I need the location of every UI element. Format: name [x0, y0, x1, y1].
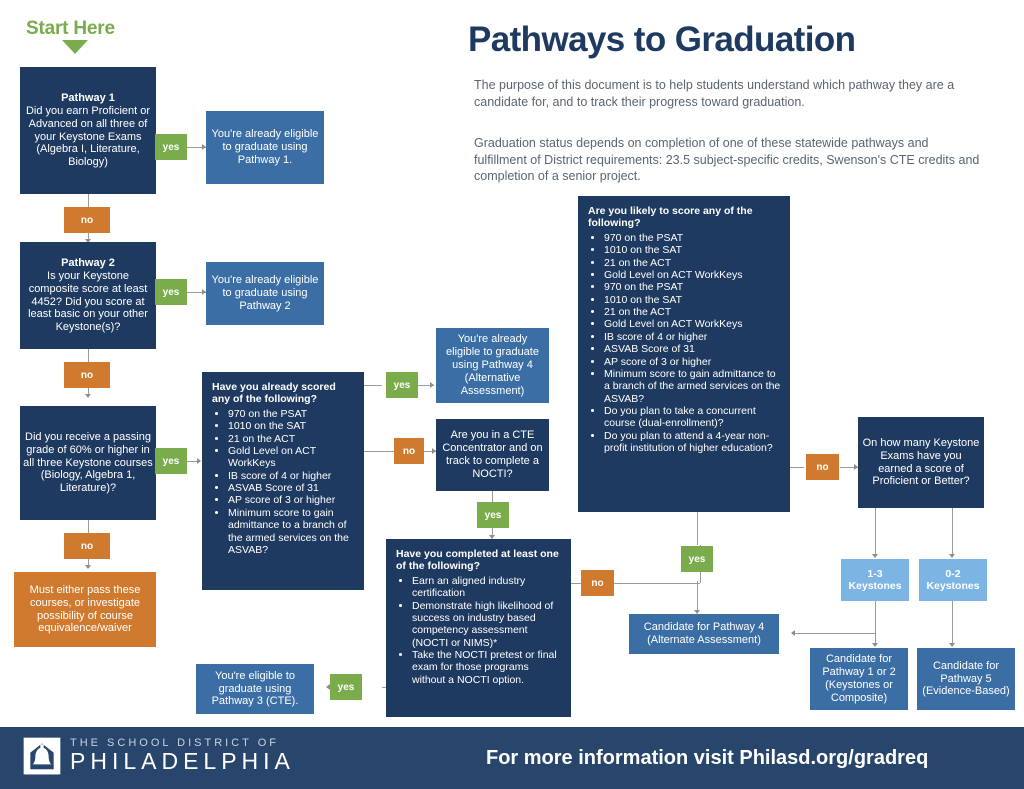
- list-item: 970 on the PSAT: [604, 281, 781, 293]
- node-how-many-keystones: On how many Keystone Exams have you earn…: [858, 417, 984, 508]
- node-pathway-2: Pathway 2 Is your Keystone composite sco…: [20, 242, 156, 349]
- footer-bar: THE SCHOOL DISTRICT OF PHILADELPHIA For …: [0, 727, 1024, 789]
- node-pathway-1-body: Did you earn Proficient or Advanced on a…: [23, 105, 153, 170]
- edge-label-no-likely-to-score-text: no: [816, 462, 828, 473]
- node-keystone-courses-text: Did you receive a passing grade of 60% o…: [23, 431, 153, 496]
- node-pathway-3-result-text: You're eligible to graduate using Pathwa…: [200, 670, 310, 709]
- list-item: AP score of 3 or higher: [228, 494, 355, 506]
- node-completed-one: Have you completed at least one of the f…: [386, 539, 571, 717]
- list-item: 1010 on the SAT: [604, 244, 781, 256]
- list-item: 970 on the PSAT: [604, 232, 781, 244]
- edge-label-no-likely-to-score: no: [806, 454, 839, 480]
- edge-label-no-keystone-courses: no: [64, 533, 110, 559]
- edge-label-yes-cte-text: yes: [485, 510, 502, 521]
- list-item: AP score of 3 or higher: [604, 356, 781, 368]
- edge-label-no-p1-text: no: [81, 215, 93, 226]
- list-item: IB score of 4 or higher: [604, 331, 781, 343]
- edge-label-yes-already-scored-text: yes: [394, 380, 411, 391]
- list-item: Take the NOCTI pretest or final exam for…: [412, 649, 562, 686]
- edge-label-yes-completed-one: yes: [330, 674, 362, 700]
- node-already-scored: Have you already scored any of the follo…: [202, 372, 364, 590]
- edge-label-no-completed-one-text: no: [591, 578, 603, 589]
- list-item: ASVAB Score of 31: [228, 482, 355, 494]
- triangle-down-icon: [62, 40, 88, 54]
- start-here-label: Start Here: [26, 18, 115, 40]
- edge-label-no-already-scored: no: [394, 438, 424, 464]
- node-candidate-pathway-4-text: Candidate for Pathway 4 (Alternate Asses…: [633, 621, 775, 647]
- node-completed-one-heading: Have you completed at least one of the f…: [396, 548, 562, 573]
- node-pathway-4-result-text: You're already eligible to graduate usin…: [440, 333, 545, 398]
- footer-brand-line-2: PHILADELPHIA: [70, 748, 295, 775]
- node-keystones-0-2: 0-2 Keystones: [919, 559, 987, 601]
- node-keystones-1-3: 1-3 Keystones: [841, 559, 909, 601]
- liberty-bell-building-icon: [22, 736, 62, 776]
- page-title: Pathways to Graduation: [468, 20, 1014, 60]
- node-pathway-2-result: You're already eligible to graduate usin…: [206, 262, 324, 325]
- list-item: Earn an aligned industry certification: [412, 575, 562, 600]
- list-item: Gold Level on ACT WorkKeys: [604, 269, 781, 281]
- edge-label-yes-p2: yes: [155, 279, 187, 305]
- node-keystone-courses: Did you receive a passing grade of 60% o…: [20, 406, 156, 520]
- list-item: Minimum score to gain admittance to a br…: [228, 507, 355, 557]
- node-likely-to-score-list: 970 on the PSAT1010 on the SAT21 on the …: [588, 232, 781, 455]
- node-pathway-1-result: You're already eligible to graduate usin…: [206, 111, 324, 184]
- node-likely-to-score: Are you likely to score any of the follo…: [578, 196, 790, 512]
- node-already-scored-list: 970 on the PSAT1010 on the SAT21 on the …: [212, 408, 355, 557]
- edge-label-yes-completed-one-text: yes: [338, 682, 355, 693]
- flowchart-canvas: Start Here Pathways to Graduation The pu…: [0, 0, 1024, 789]
- node-how-many-keystones-text: On how many Keystone Exams have you earn…: [862, 437, 980, 489]
- node-pathway-4-result: You're already eligible to graduate usin…: [436, 328, 549, 403]
- edge-label-yes-cte: yes: [477, 502, 509, 528]
- edge-label-yes-likely-to-score-text: yes: [689, 554, 706, 565]
- edge-label-yes-keystone-courses-text: yes: [163, 456, 180, 467]
- list-item: 970 on the PSAT: [228, 408, 355, 420]
- node-keystones-0-2-text: 0-2 Keystones: [921, 568, 985, 593]
- list-item: 21 on the ACT: [604, 306, 781, 318]
- node-must-pass-courses: Must either pass these courses, or inves…: [14, 572, 156, 647]
- node-pathway-1-result-text: You're already eligible to graduate usin…: [210, 128, 320, 167]
- node-pathway-2-body: Is your Keystone composite score at leas…: [23, 270, 153, 335]
- edge-label-no-keystone-courses-text: no: [81, 541, 93, 552]
- edge-label-no-p2: no: [64, 362, 110, 388]
- list-item: 1010 on the SAT: [228, 420, 355, 432]
- footer-brand: THE SCHOOL DISTRICT OF PHILADELPHIA: [70, 737, 295, 775]
- node-keystones-1-3-text: 1-3 Keystones: [843, 568, 907, 593]
- node-already-scored-heading: Have you already scored any of the follo…: [212, 381, 355, 406]
- edge-label-yes-already-scored: yes: [386, 372, 418, 398]
- list-item: 21 on the ACT: [228, 433, 355, 445]
- list-item: ASVAB Score of 31: [604, 343, 781, 355]
- node-candidate-pathway-1-or-2: Candidate for Pathway 1 or 2 (Keystones …: [810, 648, 908, 710]
- node-pathway-3-result: You're eligible to graduate using Pathwa…: [196, 664, 314, 714]
- list-item: Gold Level on ACT WorkKeys: [228, 445, 355, 470]
- list-item: Demonstrate high likelihood of success o…: [412, 600, 562, 650]
- node-candidate-pathway-5-text: Candidate for Pathway 5 (Evidence-Based): [920, 660, 1012, 699]
- edge-label-yes-p2-text: yes: [163, 287, 180, 298]
- footer-cta-text: For more information visit Philasd.org/g…: [486, 747, 1006, 770]
- node-pathway-1: Pathway 1 Did you earn Proficient or Adv…: [20, 67, 156, 194]
- list-item: Do you plan to take a concurrent course …: [604, 405, 781, 430]
- node-cte-concentrator-text: Are you in a CTE Concentrator and on tra…: [440, 429, 545, 481]
- node-candidate-pathway-1-or-2-text: Candidate for Pathway 1 or 2 (Keystones …: [813, 653, 905, 705]
- node-candidate-pathway-5: Candidate for Pathway 5 (Evidence-Based): [917, 648, 1015, 710]
- node-candidate-pathway-4: Candidate for Pathway 4 (Alternate Asses…: [629, 614, 779, 654]
- node-pathway-1-title: Pathway 1: [23, 92, 153, 105]
- node-cte-concentrator: Are you in a CTE Concentrator and on tra…: [436, 419, 549, 491]
- intro-paragraph-2: Graduation status depends on completion …: [474, 135, 982, 185]
- node-completed-one-list: Earn an aligned industry certificationDe…: [396, 575, 562, 686]
- list-item: 21 on the ACT: [604, 257, 781, 269]
- node-must-pass-courses-text: Must either pass these courses, or inves…: [19, 584, 151, 636]
- edge-label-no-already-scored-text: no: [403, 446, 415, 457]
- edge-label-yes-p1-text: yes: [163, 142, 180, 153]
- edge-label-no-completed-one: no: [581, 570, 614, 596]
- node-pathway-2-result-text: You're already eligible to graduate usin…: [210, 274, 320, 313]
- list-item: Do you plan to attend a 4-year non-profi…: [604, 430, 781, 455]
- node-pathway-2-title: Pathway 2: [23, 257, 153, 270]
- list-item: Gold Level on ACT WorkKeys: [604, 318, 781, 330]
- list-item: Minimum score to gain admittance to a br…: [604, 368, 781, 405]
- list-item: IB score of 4 or higher: [228, 470, 355, 482]
- edge-label-no-p2-text: no: [81, 370, 93, 381]
- edge-label-yes-likely-to-score: yes: [681, 546, 713, 572]
- node-likely-to-score-heading: Are you likely to score any of the follo…: [588, 205, 781, 230]
- intro-paragraph-1: The purpose of this document is to help …: [474, 77, 982, 110]
- list-item: 1010 on the SAT: [604, 294, 781, 306]
- edge-label-yes-p1: yes: [155, 134, 187, 160]
- edge-label-yes-keystone-courses: yes: [155, 448, 187, 474]
- edge-label-no-p1: no: [64, 207, 110, 233]
